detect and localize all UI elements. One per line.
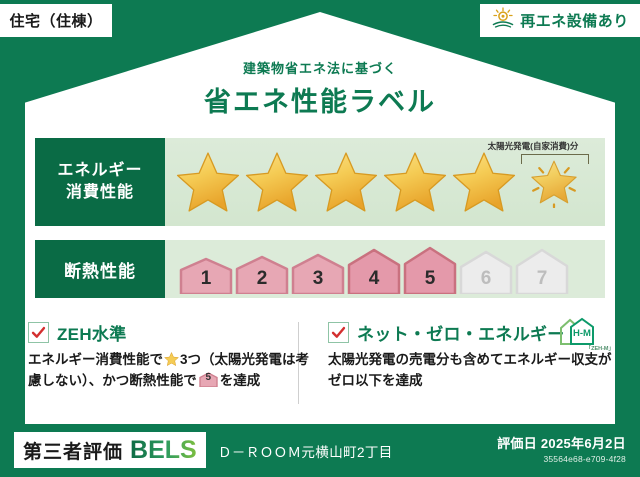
star-filled-3 — [313, 151, 379, 213]
insulation-level-badges: 1 2 3 4 5 — [179, 245, 569, 294]
star-filled-5 — [451, 151, 517, 213]
renewable-equipment-label: 再エネ設備あり — [520, 10, 629, 31]
svg-text:H-M: H-M — [573, 328, 591, 339]
bels-jp-label: 第三者評価 — [23, 437, 123, 464]
star-filled-1 — [175, 151, 241, 213]
insulation-badge-1-num: 1 — [179, 268, 233, 290]
bels-en-label: BELS — [130, 436, 197, 465]
insulation-badge-4-num: 4 — [347, 268, 401, 290]
insulation-badge-5: 5 — [403, 245, 457, 294]
star-filled-4 — [382, 151, 448, 213]
insulation-badge-2: 2 — [235, 254, 289, 294]
energy-performance-label: エネルギー 消費性能 — [35, 138, 165, 226]
evaluation-date: 評価日 2025年6月2日 — [497, 433, 626, 452]
housing-type-tag: 住宅（住棟） — [0, 4, 112, 37]
claim-zeh-body: エネルギー消費性能で3つ（太陽光発電は考慮しない）、かつ断熱性能で5を達成 — [28, 350, 312, 392]
insulation-performance-label: 断熱性能 — [35, 240, 165, 298]
claim-net-zero: ネット・ゼロ・エネルギー H-M 「ZEH-M」 太陽光発電の売電分も含めてエネ… — [328, 320, 612, 392]
energy-performance-row: エネルギー 消費性能 太陽光発電(自家消費)分 — [35, 138, 605, 226]
claim-zeh-body-pre: エネルギー消費性能で — [28, 352, 163, 367]
inline-star-icon — [164, 352, 179, 366]
energy-label-line1: エネルギー — [57, 160, 142, 182]
claim-net-zero-title: ネット・ゼロ・エネルギー — [357, 320, 565, 345]
inline-badge-num: 5 — [199, 372, 218, 387]
bels-badge: 第三者評価 BELS — [14, 432, 206, 468]
zeh-m-logo-caption: 「ZEH-M」 — [586, 344, 614, 352]
zeh-m-logo-icon: H-M 「ZEH-M」 — [558, 316, 614, 350]
label-title: 省エネ性能ラベル — [0, 80, 640, 119]
solar-sun-icon — [491, 7, 515, 34]
energy-rating-area: 太陽光発電(自家消費)分 — [165, 138, 605, 226]
insulation-badge-3: 3 — [291, 252, 345, 294]
claim-zeh-head: ZEH水準 — [28, 320, 312, 344]
insulation-badge-1: 1 — [179, 256, 233, 294]
inline-insulation-badge: 5 — [199, 372, 218, 387]
insulation-badge-6: 6 — [459, 249, 513, 294]
insulation-badge-2-num: 2 — [235, 268, 289, 290]
footer-bar: 第三者評価 BELS Ｄ－ＲＯＯＭ元横山町2丁目 評価日 2025年6月2日 3… — [0, 424, 640, 477]
label-subtitle: 建築物省エネ法に基づく — [0, 58, 640, 77]
claim-zeh-title: ZEH水準 — [57, 320, 127, 345]
evaluation-id: 35564e68-e709-4f28 — [497, 454, 626, 464]
star-filled-2 — [244, 151, 310, 213]
insulation-badge-7: 7 — [515, 247, 569, 294]
insulation-badge-6-num: 6 — [459, 268, 513, 290]
building-name: Ｄ－ＲＯＯＭ元横山町2丁目 — [218, 441, 393, 461]
energy-label-line2: 消費性能 — [66, 182, 134, 204]
claim-zeh: ZEH水準 エネルギー消費性能で3つ（太陽光発電は考慮しない）、かつ断熱性能で5… — [28, 320, 312, 392]
star-rating — [175, 151, 582, 213]
claim-net-zero-head: ネット・ゼロ・エネルギー H-M 「ZEH-M」 — [328, 320, 612, 344]
housing-type-label: 住宅（住棟） — [9, 10, 102, 31]
insulation-badge-7-num: 7 — [515, 268, 569, 290]
insulation-rating-area: 1 2 3 4 5 — [165, 240, 605, 298]
checkmark-icon — [28, 322, 49, 343]
claim-net-zero-body: 太陽光発電の売電分も含めてエネルギー収支がゼロ以下を達成 — [328, 350, 612, 392]
claim-zeh-body-post: を達成 — [220, 373, 261, 388]
evaluation-info: 評価日 2025年6月2日 35564e68-e709-4f28 — [497, 433, 626, 464]
insulation-performance-row: 断熱性能 1 2 3 4 — [35, 240, 605, 298]
checkmark-icon-2 — [328, 322, 349, 343]
insulation-badge-4: 4 — [347, 247, 401, 294]
insulation-badge-3-num: 3 — [291, 268, 345, 290]
insulation-label-text: 断熱性能 — [64, 257, 136, 282]
star-solar-bonus — [526, 156, 582, 208]
insulation-badge-5-num: 5 — [403, 268, 457, 290]
claims-section: ZEH水準 エネルギー消費性能で3つ（太陽光発電は考慮しない）、かつ断熱性能で5… — [28, 320, 612, 392]
renewable-equipment-tag: 再エネ設備あり — [480, 4, 640, 37]
label-root: 住宅（住棟） 再エネ設備あり 建築物省エネ法に基づく 省エネ性能ラベル — [0, 0, 640, 477]
